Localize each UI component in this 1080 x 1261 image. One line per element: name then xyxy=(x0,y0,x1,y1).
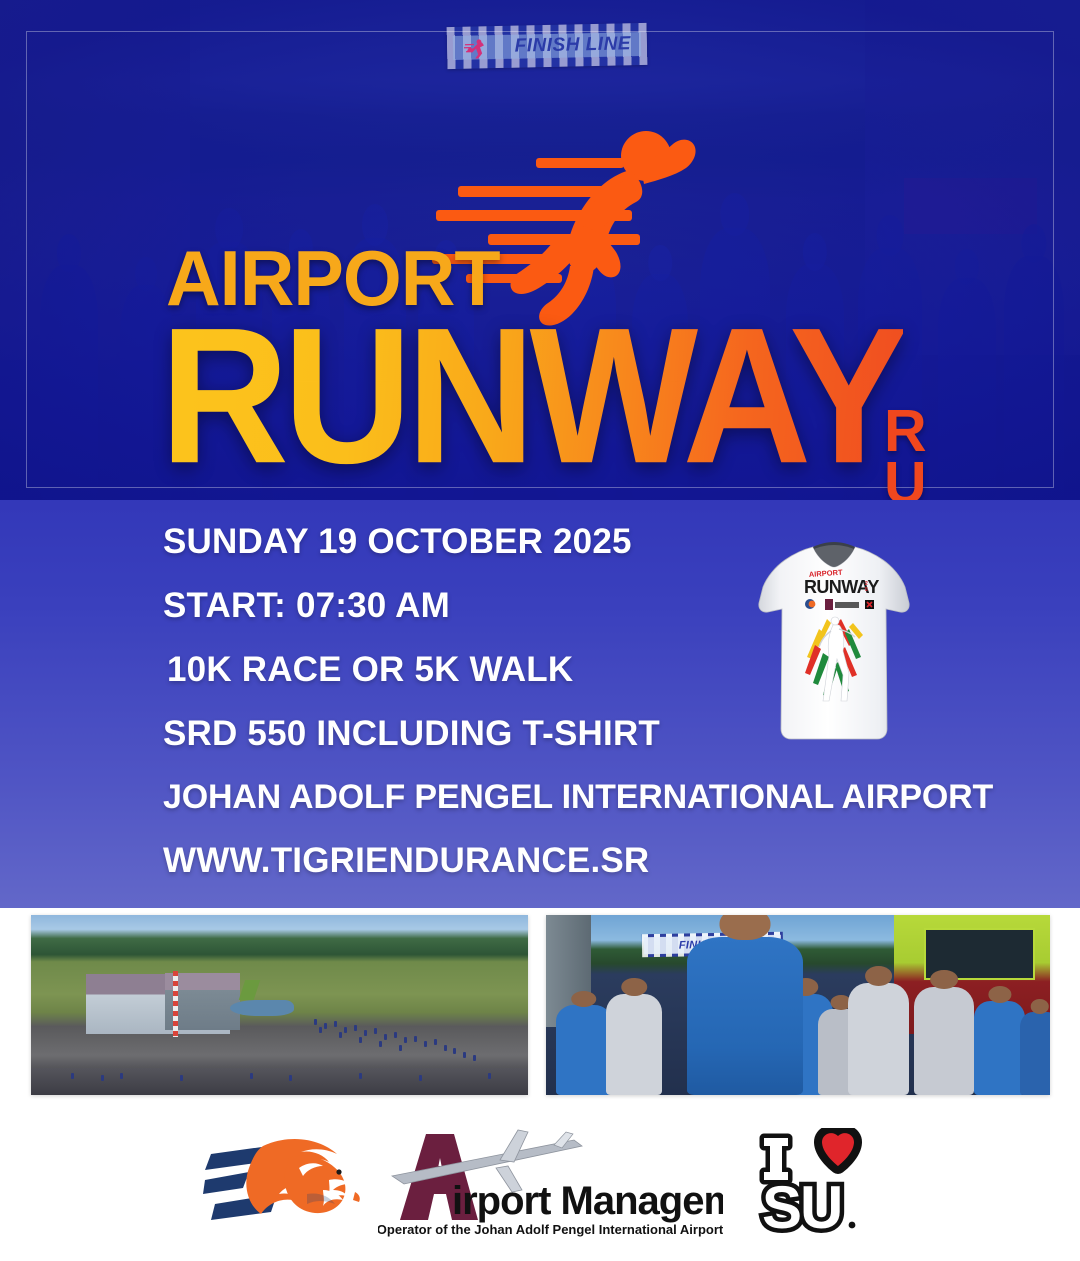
hero-finish-line-banner: FINISH LINE xyxy=(447,23,648,69)
photo-lead-runner xyxy=(687,937,803,1095)
photo-strip: FINISH LINE xyxy=(0,915,1080,1095)
runner-mark-icon xyxy=(463,35,489,60)
hero-finish-line-label: FINISH LINE xyxy=(514,33,631,57)
detail-venue: JOHAN ADOLF PENGEL INTERNATIONAL AIRPORT xyxy=(163,780,763,814)
i-love-su-logo[interactable]: SU xyxy=(748,1128,866,1238)
detail-start-time: START: 07:30 AM xyxy=(163,588,763,623)
logo-word-runway: RUNWAY xyxy=(160,300,903,493)
event-details-list: SUNDAY 19 OCTOBER 2025 START: 07:30 AM 1… xyxy=(163,524,763,907)
detail-website[interactable]: WWW.TIGRIENDURANCE.SR xyxy=(163,843,763,878)
heart-icon xyxy=(822,1133,854,1166)
aerial-runner-crowd xyxy=(31,915,528,1095)
finish-line-runners-photo: FINISH LINE xyxy=(546,915,1050,1095)
logo-word-run-vertical: R U N xyxy=(884,406,927,500)
hero-banner: FINISH LINE xyxy=(0,0,1080,500)
detail-distances: 10K RACE OR 5K WALK xyxy=(163,652,763,687)
airport-management-logo[interactable]: irport Management Ltd. Operator of the J… xyxy=(378,1128,723,1240)
tigri-endurance-logo[interactable] xyxy=(203,1128,373,1240)
svg-text:5: 5 xyxy=(865,587,868,593)
event-logo: AIRPORT RUNWAY R U N xyxy=(0,96,1080,496)
airport-management-wordmark: irport Management Ltd. xyxy=(452,1179,723,1223)
sponsor-row: irport Management Ltd. Operator of the J… xyxy=(0,1128,1080,1253)
event-t-shirt: AIRPORT RUNWAY 2 5 xyxy=(757,533,912,778)
poster-canvas: FINISH LINE xyxy=(0,0,1080,1261)
svg-text:SU: SU xyxy=(762,1174,841,1238)
airport-management-tagline: Operator of the Johan Adolf Pengel Inter… xyxy=(378,1222,723,1237)
letters-su-mark: SU xyxy=(762,1174,855,1238)
logo-run-letter-u: U xyxy=(884,458,927,500)
airport-aerial-photo xyxy=(31,915,528,1095)
detail-price: SRD 550 INCLUDING T-SHIRT xyxy=(163,716,763,751)
tshirt-print-runway: RUNWAY xyxy=(804,577,879,597)
detail-date: SUNDAY 19 OCTOBER 2025 xyxy=(163,524,763,559)
